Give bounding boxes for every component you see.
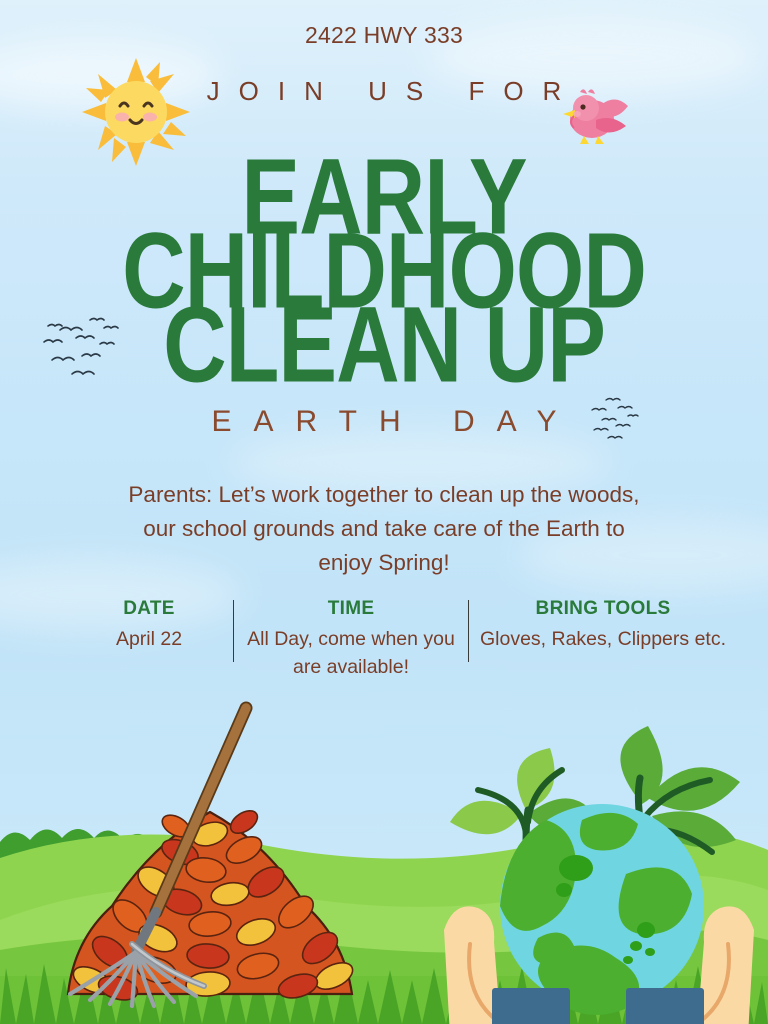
info-tools-line-2: etc.	[695, 628, 726, 650]
info-heading-date: DATE	[75, 598, 223, 620]
info-column-tools: BRING TOOLS Gloves, Rakes, Clippers etc.	[469, 598, 737, 653]
info-value-time: All Day, come when you are available!	[244, 625, 458, 681]
body-line-2: our school grounds and take care of the …	[64, 512, 704, 546]
info-columns: DATE April 22 TIME All Day, come when yo…	[56, 598, 746, 681]
body-line-1: Parents: Let’s work together to clean up…	[64, 478, 704, 512]
address-text: 2422 HWY 333	[0, 22, 768, 49]
body-line-3: enjoy Spring!	[64, 546, 704, 580]
info-column-date: DATE April 22	[65, 598, 233, 653]
subtitle-text: EARTH DAY	[0, 405, 768, 439]
info-time-line-1: All Day, come when	[247, 628, 418, 650]
info-date-line-1: April 22	[116, 628, 182, 650]
info-value-tools: Gloves, Rakes, Clippers etc.	[479, 625, 727, 653]
eyebrow-text: JOIN US FOR	[0, 76, 768, 107]
poster-canvas: 2422 HWY 333 JOIN US FOR EARLY CHILDHOOD…	[0, 0, 768, 1024]
sleeve-left	[492, 988, 570, 1024]
sleeve-right	[626, 988, 704, 1024]
leaf-pile-rake-icon	[48, 694, 378, 1024]
hands-holding-globe-icon	[430, 694, 768, 1024]
page-title-line-3: CLEAN UP	[0, 296, 768, 377]
info-tools-line-1: Gloves, Rakes, Clippers	[480, 628, 689, 650]
info-heading-time: TIME	[244, 598, 458, 620]
title-line-3-text: CLEAN UP	[163, 296, 605, 395]
info-heading-tools: BRING TOOLS	[479, 598, 727, 620]
body-paragraph: Parents: Let’s work together to clean up…	[64, 478, 704, 580]
info-column-time: TIME All Day, come when you are availabl…	[234, 598, 468, 681]
info-value-date: April 22	[75, 625, 223, 653]
